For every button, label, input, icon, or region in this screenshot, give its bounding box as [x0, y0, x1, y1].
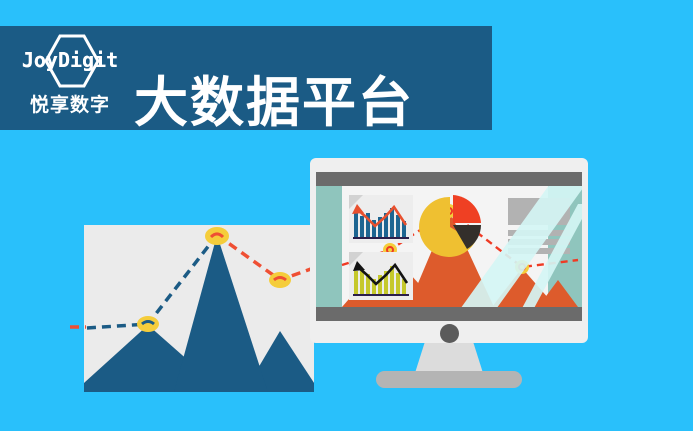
- monitor-stand-base: [376, 371, 522, 388]
- monitor-bezel-bottom: [316, 307, 582, 321]
- marker-point-3: [269, 272, 291, 288]
- pie-chart[interactable]: [419, 194, 482, 257]
- placeholder-line: [508, 248, 570, 254]
- placeholder-line: [508, 239, 570, 245]
- marker-point-2: [205, 227, 229, 245]
- pie-slice-red[interactable]: [453, 195, 481, 223]
- axis-line: [353, 294, 409, 296]
- mountain-peak-center: [174, 235, 268, 392]
- yellow-bar-chart: [349, 252, 413, 300]
- placeholder-box: [508, 198, 570, 225]
- monitor-stand-neck: [415, 343, 483, 373]
- left-mountain-panel: [84, 225, 314, 392]
- power-indicator-icon: [440, 324, 459, 343]
- logo-wordmark: JoyDigit: [14, 48, 126, 72]
- logo-subtitle: 悦享数字: [14, 90, 126, 117]
- placeholder-line: [508, 230, 570, 236]
- arrow-head-icon: [352, 204, 364, 214]
- blue-bar-chart-card[interactable]: [349, 195, 413, 243]
- axis-line: [353, 237, 409, 239]
- header-banner: JoyDigit 悦享数字 大数据平台: [0, 26, 492, 130]
- illustration-canvas: JoyDigit 悦享数字 大数据平台: [0, 0, 693, 431]
- monitor-bezel-top: [316, 172, 582, 186]
- left-mountain-chart: [84, 225, 314, 392]
- desktop-monitor: [310, 158, 588, 343]
- orange-marker-3: [515, 260, 529, 274]
- marker-point-1: [137, 316, 159, 332]
- yellow-bar-chart-card[interactable]: [349, 252, 413, 300]
- page-title: 大数据平台: [134, 76, 414, 130]
- monitor-screen: [316, 186, 582, 307]
- brand-logo: JoyDigit 悦享数字: [14, 32, 126, 124]
- trend-line-red: [217, 235, 314, 280]
- arrow-head-icon: [353, 261, 365, 271]
- blue-bar-chart: [349, 195, 413, 243]
